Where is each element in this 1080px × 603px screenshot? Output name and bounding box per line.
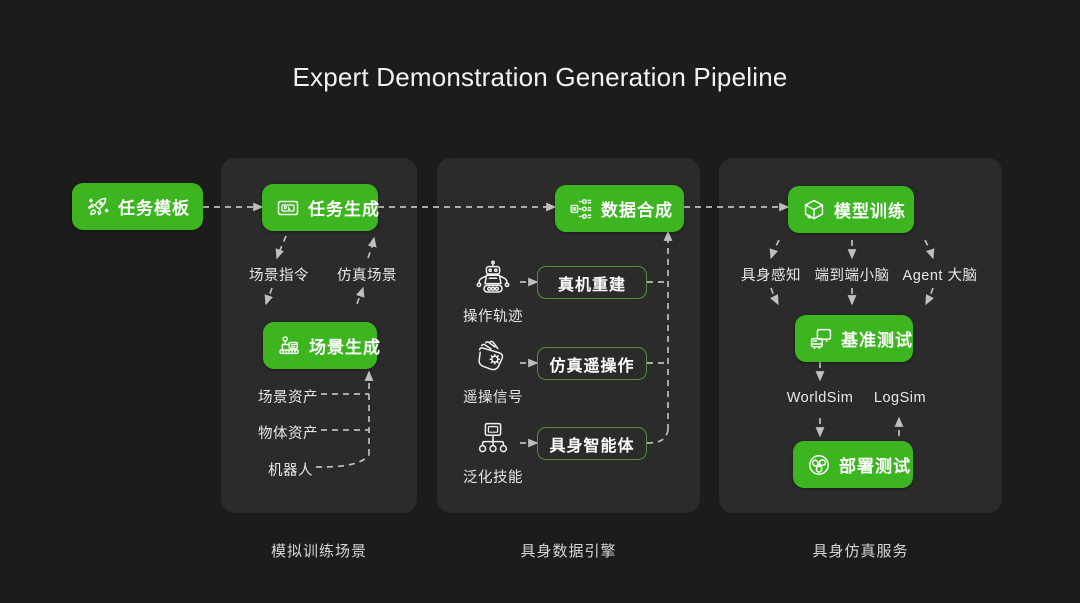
input-label-object-asset: 物体资产	[226, 422, 318, 443]
node-task-template[interactable]: 任务模板	[72, 183, 203, 230]
node-deployment-test[interactable]: 部署测试	[793, 441, 913, 488]
network-icon	[471, 421, 515, 461]
diagram-canvas: Expert Demonstration Generation Pipeline	[0, 0, 1080, 603]
node-label: 模型训练	[834, 197, 906, 222]
caption-panel-2: 具身数据引擎	[437, 540, 700, 561]
node-simulated-teleoperation[interactable]: 仿真遥操作	[537, 347, 647, 380]
node-model-training[interactable]: 模型训练	[788, 186, 914, 233]
node-benchmark-test[interactable]: 基准测试	[795, 315, 913, 362]
rocket-icon	[86, 195, 110, 219]
node-label: 部署测试	[839, 452, 911, 477]
node-label: 任务生成	[308, 195, 380, 220]
edge-label-agent-brain: Agent 大脑	[890, 264, 990, 285]
edge-label-worldsim: WorldSim	[772, 390, 868, 406]
source-label-generalization-skill: 泛化技能	[449, 466, 537, 487]
input-label-robot: 机器人	[226, 459, 313, 480]
data-synthesis-icon	[569, 197, 593, 221]
source-label-operation-trajectory: 操作轨迹	[449, 305, 537, 326]
pl-frame-icon	[276, 196, 300, 220]
cube-arrow-icon	[802, 198, 826, 222]
node-label: 仿真遥操作	[549, 352, 634, 376]
robot-arm-icon	[277, 334, 301, 358]
node-task-generation[interactable]: 任务生成	[262, 184, 378, 231]
caption-panel-1: 模拟训练场景	[221, 540, 417, 561]
input-label-scene-asset: 场景资产	[226, 386, 318, 407]
robot-icon	[471, 260, 515, 300]
node-data-synthesis[interactable]: 数据合成	[555, 185, 684, 232]
node-real-machine-reconstruction[interactable]: 真机重建	[537, 266, 647, 299]
node-label: 真机重建	[558, 271, 626, 295]
node-scene-generation[interactable]: 场景生成	[263, 322, 377, 369]
node-label: 具身智能体	[549, 432, 634, 456]
node-label: 场景生成	[309, 333, 381, 358]
edge-label-logsim: LogSim	[858, 390, 942, 406]
node-embodied-agent[interactable]: 具身智能体	[537, 427, 647, 460]
edge-label-sim-scene: 仿真场景	[324, 264, 410, 285]
node-label: 任务模板	[118, 194, 190, 219]
glove-icon	[471, 341, 515, 381]
edge-label-scene-instruction: 场景指令	[236, 264, 322, 285]
node-label: 基准测试	[841, 326, 913, 351]
source-label-teleop-signal: 遥操信号	[449, 386, 537, 407]
benchmark-icon	[809, 327, 833, 351]
caption-panel-3: 具身仿真服务	[719, 540, 1002, 561]
node-label: 数据合成	[601, 196, 673, 221]
fan-circle-icon	[807, 453, 831, 477]
page-title: Expert Demonstration Generation Pipeline	[0, 62, 1080, 93]
